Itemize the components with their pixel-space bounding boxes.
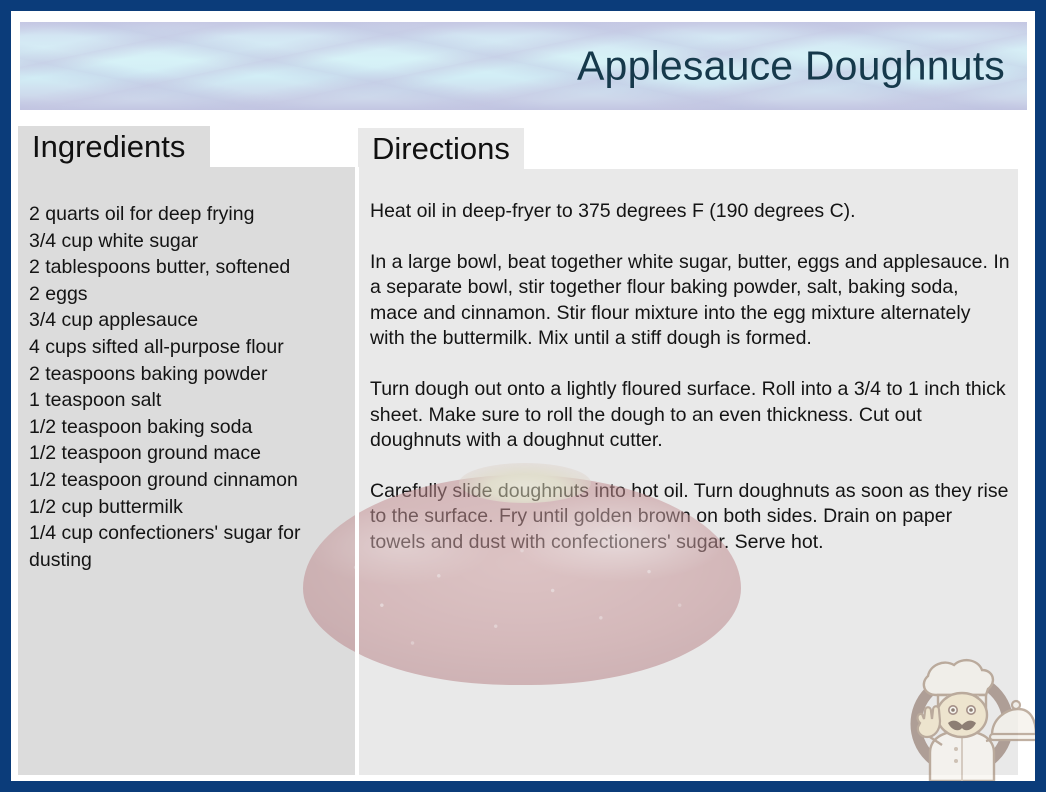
list-item: 1/2 teaspoon baking soda [29, 414, 349, 441]
list-item: 2 tablespoons butter, softened [29, 254, 349, 281]
list-item: 1 teaspoon salt [29, 387, 349, 414]
directions-panel: Heat oil in deep-fryer to 375 degrees F … [358, 169, 1018, 775]
list-item: 1/4 cup confectioners' sugar for dusting [29, 520, 349, 573]
direction-paragraph: Carefully slide doughnuts into hot oil. … [370, 479, 1010, 556]
ingredients-list: 2 quarts oil for deep frying 3/4 cup whi… [29, 201, 349, 573]
recipe-card-inner: Applesauce Doughnuts Ingredients 2 quart… [11, 11, 1035, 781]
directions-body: Heat oil in deep-fryer to 375 degrees F … [370, 199, 1010, 556]
list-item: 2 teaspoons baking powder [29, 361, 349, 388]
ingredients-section-header: Ingredients [18, 126, 210, 167]
list-item: 3/4 cup white sugar [29, 228, 349, 255]
ingredients-panel: 2 quarts oil for deep frying 3/4 cup whi… [18, 167, 355, 775]
direction-paragraph: Heat oil in deep-fryer to 375 degrees F … [370, 199, 1010, 225]
list-item: 2 quarts oil for deep frying [29, 201, 349, 228]
direction-paragraph: In a large bowl, beat together white sug… [370, 250, 1010, 352]
list-item: 2 eggs [29, 281, 349, 308]
title-banner: Applesauce Doughnuts [20, 22, 1027, 110]
list-item: 3/4 cup applesauce [29, 307, 349, 334]
page-title: Applesauce Doughnuts [577, 43, 1005, 90]
direction-paragraph: Turn dough out onto a lightly floured su… [370, 377, 1010, 454]
directions-section-header: Directions [358, 128, 524, 169]
directions-header-label: Directions [372, 133, 510, 164]
list-item: 4 cups sifted all-purpose flour [29, 334, 349, 361]
recipe-card-frame: Applesauce Doughnuts Ingredients 2 quart… [0, 0, 1046, 792]
list-item: 1/2 teaspoon ground mace [29, 440, 349, 467]
panel-gutter [355, 167, 359, 775]
list-item: 1/2 teaspoon ground cinnamon [29, 467, 349, 494]
ingredients-header-label: Ingredients [32, 131, 185, 162]
list-item: 1/2 cup buttermilk [29, 494, 349, 521]
